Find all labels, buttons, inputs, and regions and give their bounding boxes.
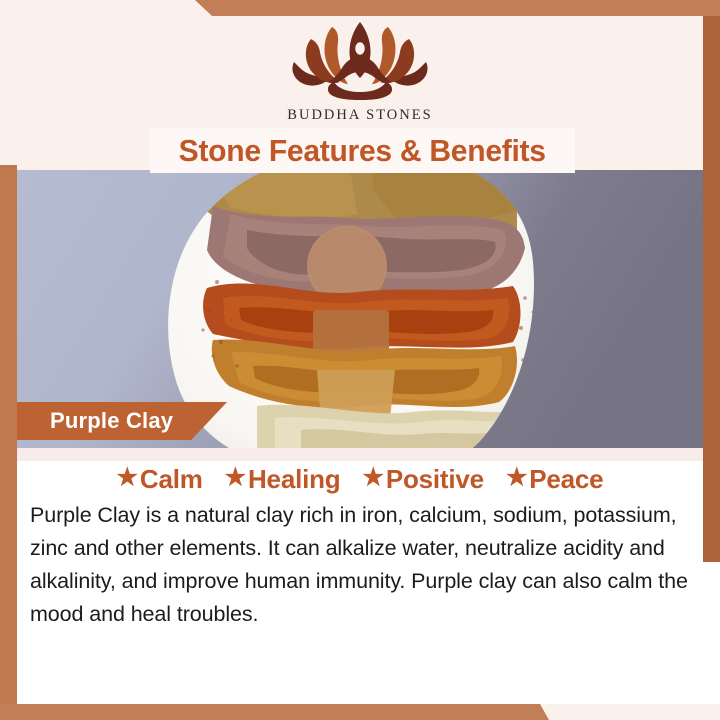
benefit-item-calm: ★Calm <box>117 464 203 495</box>
product-description: Purple Clay is a natural clay rich in ir… <box>30 499 690 631</box>
frame-bottom-right-fill <box>540 704 720 720</box>
frame-bottom-band <box>0 704 549 720</box>
benefit-label-positive: Positive <box>386 464 484 495</box>
brand-name: BUDDHA STONES <box>287 107 432 124</box>
benefits-row: ★Calm ★Healing ★Positive ★Peace <box>17 461 703 497</box>
star-icon: ★ <box>117 466 138 490</box>
benefit-label-peace: Peace <box>529 464 603 495</box>
product-name-label: Purple Clay <box>50 408 173 434</box>
benefit-label-healing: Healing <box>248 464 341 495</box>
benefit-item-positive: ★Positive <box>363 464 484 495</box>
frame-top-band <box>195 0 720 16</box>
star-icon: ★ <box>225 466 246 490</box>
benefit-item-peace: ★Peace <box>506 464 604 495</box>
benefit-label-calm: Calm <box>140 464 203 495</box>
benefit-item-healing: ★Healing <box>225 464 341 495</box>
poster-canvas: BUDDHA STONES Stone Features & Benefits <box>0 0 720 720</box>
star-icon: ★ <box>506 466 527 490</box>
frame-left-band <box>0 165 17 705</box>
benefits-top-strip <box>17 448 703 461</box>
frame-right-top-corner <box>703 0 720 16</box>
lotus-meditation-icon <box>284 22 436 100</box>
product-name-banner: Purple Clay <box>17 402 227 440</box>
star-icon: ★ <box>363 466 384 490</box>
brand-logo: BUDDHA STONES <box>0 22 720 124</box>
page-title: Stone Features & Benefits <box>179 133 546 169</box>
frame-right-band <box>703 0 720 562</box>
title-plate: Stone Features & Benefits <box>150 128 575 173</box>
